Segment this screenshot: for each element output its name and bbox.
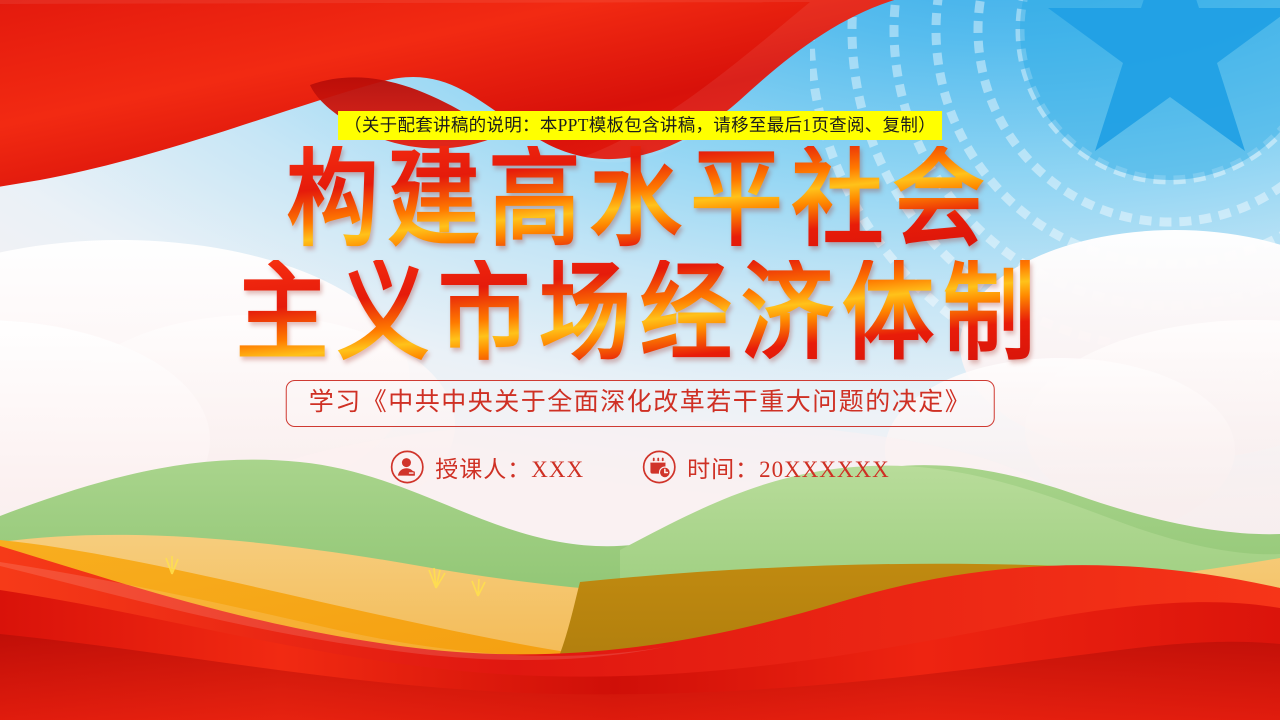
person-icon [390,450,424,484]
meta-row: 授课人：XXX [390,450,890,484]
calendar-clock-icon [642,450,676,484]
date-label: 时间：20XXXXXX [687,450,890,484]
main-title: 构建高水平社会 主义市场经济体制 [0,146,1280,352]
presenter-label: 授课人：XXX [435,450,584,484]
title-line-2: 主义市场经济体制 [0,260,1280,367]
presenter-item: 授课人：XXX [390,450,584,484]
title-line-1: 构建高水平社会 [0,146,1280,253]
subtitle-box: 学习《中共中央关于全面深化改革若干重大问题的决定》 [286,380,995,427]
slide-content: （关于配套讲稿的说明：本PPT模板包含讲稿，请移至最后1页查阅、复制） 构建高水… [0,0,1280,720]
date-item: 时间：20XXXXXX [642,450,890,484]
slide-root: （关于配套讲稿的说明：本PPT模板包含讲稿，请移至最后1页查阅、复制） 构建高水… [0,0,1280,720]
template-notice-banner: （关于配套讲稿的说明：本PPT模板包含讲稿，请移至最后1页查阅、复制） [338,111,942,140]
